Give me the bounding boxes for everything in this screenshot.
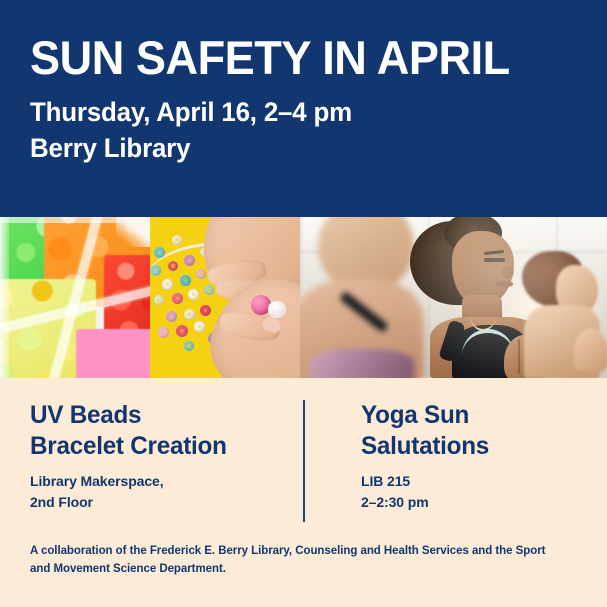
box-background-corner: [116, 217, 150, 247]
events-section: UV Beads Bracelet Creation Library Maker…: [0, 378, 607, 528]
event-title-line: Bracelet Creation: [30, 431, 282, 462]
page-title: SUN SAFETY IN APRIL: [30, 34, 555, 81]
scattered-bead: [194, 321, 205, 332]
scattered-bead: [168, 261, 178, 271]
hands-threading-beads-photo: [150, 217, 300, 378]
scattered-bead: [172, 293, 183, 304]
scattered-bead: [154, 247, 165, 258]
photo-band: [0, 217, 607, 378]
event-venue: Berry Library: [30, 131, 555, 167]
box-rim-left: [0, 217, 9, 378]
event-time-line: 2–2:30 pm: [361, 492, 576, 513]
participant-lips: [496, 281, 513, 287]
collaboration-credit: A collaboration of the Frederick E. Berr…: [30, 543, 560, 579]
poster-header: SUN SAFETY IN APRIL Thursday, April 16, …: [0, 0, 607, 217]
scattered-bead: [166, 311, 177, 322]
threaded-white-bead: [268, 301, 286, 318]
participant-sportsbra: [310, 349, 414, 378]
background-participant: [520, 251, 607, 378]
event-location: LIB 215 2–2:30 pm: [361, 471, 576, 513]
event-title-line: UV Beads: [30, 400, 282, 431]
event-location-line: 2nd Floor: [30, 492, 290, 513]
foreground-participant: [300, 221, 420, 378]
bead-compartment-pink: [76, 329, 150, 378]
scattered-bead: [162, 279, 173, 290]
scattered-bead: [180, 275, 191, 286]
scattered-bead: [204, 285, 214, 295]
event-room-line: LIB 215: [361, 471, 576, 492]
participant-closed-eye: [484, 258, 505, 262]
event-location: Library Makerspace, 2nd Floor: [30, 471, 290, 513]
column-divider: [303, 400, 305, 522]
yoga-class-photo: [300, 217, 607, 378]
header-subtitle-group: Thursday, April 16, 2–4 pm Berry Library: [30, 95, 577, 167]
prayer-pose-hands: [574, 329, 607, 371]
event-column-uv-beads: UV Beads Bracelet Creation Library Maker…: [30, 400, 290, 513]
event-column-yoga: Yoga Sun Salutations LIB 215 2–2:30 pm: [361, 400, 576, 513]
event-title-line: Salutations: [361, 431, 570, 462]
event-location-line: Library Makerspace,: [30, 471, 290, 492]
scattered-bead: [184, 341, 194, 351]
scattered-bead: [150, 265, 161, 276]
bead-organizer-photo: [0, 217, 150, 378]
event-date-time: Thursday, April 16, 2–4 pm: [30, 95, 555, 131]
scattered-bead: [200, 305, 211, 316]
event-title-line: Yoga Sun: [361, 400, 570, 431]
footer: A collaboration of the Frederick E. Berr…: [30, 543, 560, 579]
scattered-bead: [188, 289, 199, 300]
scattered-bead: [172, 235, 182, 245]
scattered-bead: [184, 309, 195, 320]
scattered-bead: [176, 325, 188, 337]
scattered-bead: [154, 295, 164, 305]
scattered-bead: [158, 327, 169, 338]
scattered-bead: [196, 269, 206, 279]
event-poster: SUN SAFETY IN APRIL Thursday, April 16, …: [0, 0, 607, 607]
scattered-bead: [184, 255, 195, 266]
participant-nose: [502, 267, 514, 278]
